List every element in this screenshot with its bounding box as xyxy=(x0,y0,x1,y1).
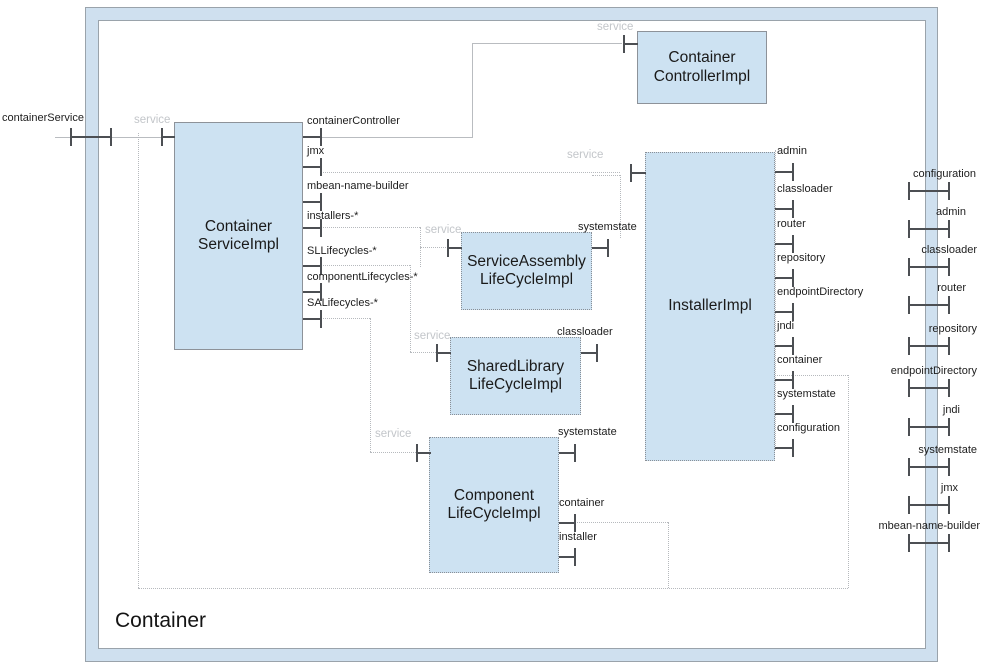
port-arm-boundary-mbean xyxy=(908,542,948,544)
port-stem-boundary-router-out xyxy=(948,296,950,314)
port-label-component-systemstate: systemstate xyxy=(558,426,617,438)
component-label: Component LifeCycleImpl xyxy=(447,487,540,524)
port-arm-installer-classloader xyxy=(775,208,793,210)
frame-band-top xyxy=(86,8,937,20)
port-stem-boundary-admin-out xyxy=(948,220,950,238)
port-arm-installer-configuration xyxy=(775,447,793,449)
route-installer-right-v xyxy=(848,375,849,588)
port-label-boundary-mbean-name-builder: mbean-name-builder xyxy=(879,520,981,532)
port-arm-container-service-out xyxy=(70,136,110,138)
port-stem-boundary-repository-out xyxy=(948,337,950,355)
frame-band-left xyxy=(86,8,98,661)
route-sl-h xyxy=(320,265,410,266)
diagram-title: Container xyxy=(115,609,206,633)
port-stem-boundary-classloader-out xyxy=(948,258,950,276)
port-label-installers: installers-* xyxy=(307,210,358,222)
port-arm-shared-library-service xyxy=(436,352,451,354)
port-stem-component-installer xyxy=(574,548,576,566)
component-label: ServiceAssembly LifeCycleImpl xyxy=(467,253,586,290)
route-sa-v xyxy=(370,318,371,452)
port-arm-component-installer xyxy=(559,556,575,558)
port-stem-boundary-jmx-out xyxy=(948,496,950,514)
route-comp-inst-h xyxy=(560,522,668,523)
port-stem-boundary-systemstate-out xyxy=(948,458,950,476)
port-arm-componentLifecycles xyxy=(303,291,321,293)
port-stem-mbean-name-builder xyxy=(320,193,322,211)
port-label-installer-classloader: classloader xyxy=(777,183,833,195)
port-label-SALifecycles: SALifecycles-* xyxy=(307,297,378,309)
component-label: SharedLibrary LifeCycleImpl xyxy=(467,358,564,395)
port-label-mbean-name-builder: mbean-name-builder xyxy=(307,180,409,192)
port-label-SLLifecycles: SLLifecycles-* xyxy=(307,245,377,257)
port-arm-installer-admin xyxy=(775,171,793,173)
port-arm-installer-service xyxy=(630,172,646,174)
route-sa-ss-h xyxy=(592,175,620,176)
route-comp-inst-v xyxy=(668,522,669,588)
service-label-component: service xyxy=(375,428,411,440)
port-label-installer-router: router xyxy=(777,218,806,230)
port-stem-installer-jndi xyxy=(792,337,794,355)
port-arm-installer-container xyxy=(775,379,793,381)
service-label-shared-library: service xyxy=(414,330,450,342)
component-container-service-impl[interactable]: Container ServiceImpl xyxy=(174,122,303,350)
port-arm-component-service xyxy=(416,452,431,454)
route-controller-v xyxy=(472,43,473,138)
diagram-canvas: Container ServiceImpl Container Controll… xyxy=(0,0,982,670)
frame-inner-right xyxy=(925,20,926,649)
port-arm-boundary-endpointDirectory xyxy=(908,387,948,389)
port-arm-container-controller-service xyxy=(623,43,638,45)
port-stem-installers xyxy=(320,219,322,237)
route-controller-h1 xyxy=(320,137,472,138)
port-label-installer-endpointDirectory: endpointDirectory xyxy=(777,286,863,298)
route-comp-bottom-h xyxy=(138,588,848,589)
port-arm-boundary-jmx xyxy=(908,504,948,506)
route-installers-h xyxy=(320,227,420,228)
port-stem-boundary-jndi-out xyxy=(948,418,950,436)
port-arm-installer-endpointDirectory xyxy=(775,311,793,313)
port-arm-boundary-configuration xyxy=(908,190,948,192)
port-arm-component-systemstate xyxy=(559,452,575,454)
port-stem-service-assembly-systemstate xyxy=(607,239,609,257)
route-controller-h2 xyxy=(472,43,622,44)
port-arm-container-service-impl-service xyxy=(161,136,175,138)
route-left-spine xyxy=(138,133,139,588)
port-arm-shared-library-classloader xyxy=(581,352,597,354)
port-label-boundary-systemstate: systemstate xyxy=(918,444,977,456)
route-installer-right-h xyxy=(775,375,848,376)
port-stem-shared-library-classloader xyxy=(596,344,598,362)
port-arm-boundary-systemstate xyxy=(908,466,948,468)
frame-inner-bottom xyxy=(98,648,926,649)
port-label-container-service: containerService xyxy=(2,112,84,124)
port-stem-jmx xyxy=(320,158,322,176)
port-stem-boundary-configuration-out xyxy=(948,182,950,200)
port-arm-jmx xyxy=(303,166,321,168)
port-label-boundary-configuration: configuration xyxy=(913,168,976,180)
port-label-boundary-repository: repository xyxy=(929,323,977,335)
port-stem-installer-admin xyxy=(792,163,794,181)
component-label: Container ControllerImpl xyxy=(654,49,750,86)
frame-outer-bottom xyxy=(85,661,938,662)
port-label-component-installer: installer xyxy=(559,531,597,543)
port-label-installer-admin: admin xyxy=(777,145,807,157)
port-label-boundary-router: router xyxy=(937,282,966,294)
service-label-container-controller: service xyxy=(597,21,633,33)
port-arm-boundary-jndi xyxy=(908,426,948,428)
port-arm-service-assembly-service xyxy=(447,247,462,249)
port-stem-installer-endpointDirectory xyxy=(792,303,794,321)
component-shared-library-lifecycle-impl[interactable]: SharedLibrary LifeCycleImpl xyxy=(450,337,581,415)
component-label: Container ServiceImpl xyxy=(198,218,279,255)
port-arm-SALifecycles xyxy=(303,318,321,320)
port-label-boundary-admin: admin xyxy=(936,206,966,218)
port-stem-installer-configuration xyxy=(792,439,794,457)
route-right-spine xyxy=(775,150,776,450)
port-arm-installer-router xyxy=(775,243,793,245)
port-arm-containerController xyxy=(303,136,321,138)
route-sa-h xyxy=(320,318,370,319)
port-stem-containerController xyxy=(320,128,322,146)
port-stem-installer-classloader xyxy=(792,200,794,218)
port-arm-installer-repository xyxy=(775,277,793,279)
port-label-containerController: containerController xyxy=(307,115,400,127)
port-stem-installer-systemstate xyxy=(792,405,794,423)
port-arm-installers xyxy=(303,227,321,229)
port-arm-installer-jndi xyxy=(775,345,793,347)
port-label-boundary-classloader: classloader xyxy=(921,244,977,256)
port-stem-component-systemstate xyxy=(574,444,576,462)
port-label-installer-jndi: jndi xyxy=(777,320,794,332)
component-service-assembly-lifecycle-impl[interactable]: ServiceAssembly LifeCycleImpl xyxy=(461,232,592,310)
port-arm-boundary-classloader xyxy=(908,266,948,268)
port-stem-installer-repository xyxy=(792,269,794,287)
port-stem-boundary-endpointDirectory-out xyxy=(948,379,950,397)
port-label-shared-library-classloader: classloader xyxy=(557,326,613,338)
port-label-installer-configuration: configuration xyxy=(777,422,840,434)
port-arm-component-container xyxy=(559,522,575,524)
port-arm-boundary-admin xyxy=(908,228,948,230)
service-label-service-assembly: service xyxy=(425,224,461,236)
port-arm-boundary-repository xyxy=(908,345,948,347)
port-arm-service-assembly-systemstate xyxy=(592,247,608,249)
port-label-boundary-jndi: jndi xyxy=(943,404,960,416)
port-stem-installer-container xyxy=(792,371,794,389)
port-label-componentLifecycles: componentLifecycles-* xyxy=(307,271,418,283)
port-label-installer-repository: repository xyxy=(777,252,825,264)
port-stem-component-container xyxy=(574,514,576,532)
port-label-component-container: container xyxy=(559,497,604,509)
port-stem-container-service-in xyxy=(110,128,112,146)
port-label-installer-container: container xyxy=(777,354,822,366)
component-component-lifecycle-impl[interactable]: Component LifeCycleImpl xyxy=(429,437,559,573)
component-label: InstallerImpl xyxy=(668,297,752,315)
port-stem-boundary-mbean-out xyxy=(948,534,950,552)
route-installer-h1 xyxy=(320,172,620,173)
component-container-controller-impl[interactable]: Container ControllerImpl xyxy=(637,31,767,104)
frame-band-bottom xyxy=(86,649,937,661)
port-label-jmx: jmx xyxy=(307,145,324,157)
service-label-container-service: service xyxy=(134,114,170,126)
port-stem-installer-router xyxy=(792,235,794,253)
component-installer-impl[interactable]: InstallerImpl xyxy=(645,152,775,461)
port-stem-SALifecycles xyxy=(320,310,322,328)
port-arm-installer-systemstate xyxy=(775,413,793,415)
port-label-boundary-jmx: jmx xyxy=(941,482,958,494)
port-arm-boundary-router xyxy=(908,304,948,306)
port-label-service-assembly-systemstate: systemstate xyxy=(578,221,637,233)
service-label-installer: service xyxy=(567,149,603,161)
port-arm-mbean-name-builder xyxy=(303,201,321,203)
port-label-installer-systemstate: systemstate xyxy=(777,388,836,400)
port-arm-SLLifecycles xyxy=(303,265,321,267)
port-label-boundary-endpointDirectory: endpointDirectory xyxy=(891,365,977,377)
